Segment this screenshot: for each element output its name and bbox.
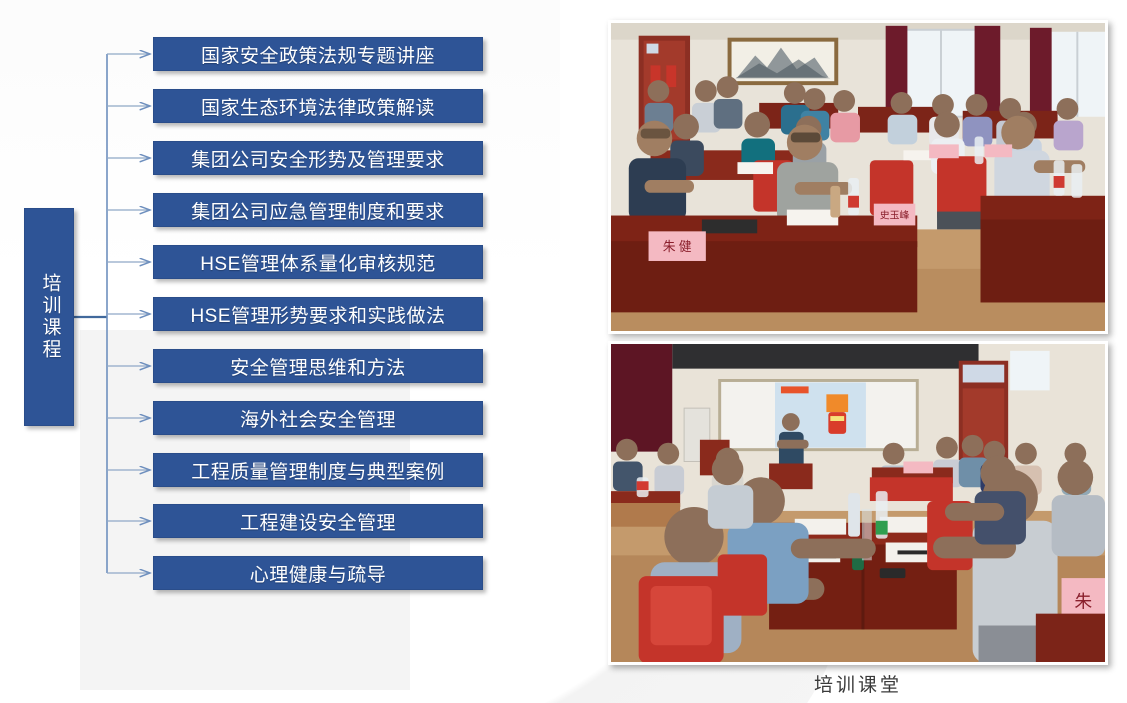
diagram-node-label: HSE管理形势要求和实践做法 — [190, 301, 445, 328]
diagram-node-8[interactable]: 海外社会安全管理 — [153, 401, 483, 435]
diagram-node-1[interactable]: 国家安全政策法规专题讲座 — [153, 37, 483, 71]
diagram-node-label: 工程质量管理制度与典型案例 — [191, 457, 445, 484]
diagram-node-label: 心理健康与疏导 — [250, 560, 387, 587]
diagram-node-2[interactable]: 国家生态环境法律政策解读 — [153, 89, 483, 123]
diagram-node-label: 国家安全政策法规专题讲座 — [201, 41, 435, 68]
diagram-node-label: HSE管理体系量化审核规范 — [200, 249, 436, 276]
svg-text:朱 健: 朱 健 — [663, 240, 692, 254]
training-photo-classroom-front: 朱 健 史玉峰 — [608, 20, 1108, 334]
diagram-node-label: 集团公司安全形势及管理要求 — [191, 145, 445, 172]
diagram-node-5[interactable]: HSE管理体系量化审核规范 — [153, 245, 483, 279]
diagram-node-label: 安全管理思维和方法 — [230, 353, 406, 380]
diagram-node-label: 工程建设安全管理 — [240, 508, 396, 535]
diagram-node-7[interactable]: 安全管理思维和方法 — [153, 349, 483, 383]
training-course-diagram: 培训课程 国家安全政策法规专题讲座 国家生态环境法律政策解读 集团公司安全形势及… — [0, 0, 600, 703]
diagram-node-11[interactable]: 心理健康与疏导 — [153, 556, 483, 590]
diagram-node-3[interactable]: 集团公司安全形势及管理要求 — [153, 141, 483, 175]
svg-text:史玉峰: 史玉峰 — [880, 209, 910, 221]
diagram-root-label: 培训课程 — [39, 273, 60, 361]
training-photo-classroom-rear: 朱 — [608, 341, 1108, 665]
diagram-node-6[interactable]: HSE管理形势要求和实践做法 — [153, 297, 483, 331]
photo-caption: 培训课堂 — [608, 670, 1108, 697]
diagram-node-label: 国家生态环境法律政策解读 — [201, 93, 435, 120]
diagram-node-9[interactable]: 工程质量管理制度与典型案例 — [153, 453, 483, 487]
diagram-node-10[interactable]: 工程建设安全管理 — [153, 504, 483, 538]
diagram-node-label: 集团公司应急管理制度和要求 — [191, 197, 445, 224]
diagram-root-node[interactable]: 培训课程 — [24, 208, 74, 426]
slide-canvas: 培训课程 国家安全政策法规专题讲座 国家生态环境法律政策解读 集团公司安全形势及… — [0, 0, 1127, 703]
svg-text:朱: 朱 — [1074, 592, 1092, 612]
diagram-node-label: 海外社会安全管理 — [240, 405, 396, 432]
diagram-node-4[interactable]: 集团公司应急管理制度和要求 — [153, 193, 483, 227]
